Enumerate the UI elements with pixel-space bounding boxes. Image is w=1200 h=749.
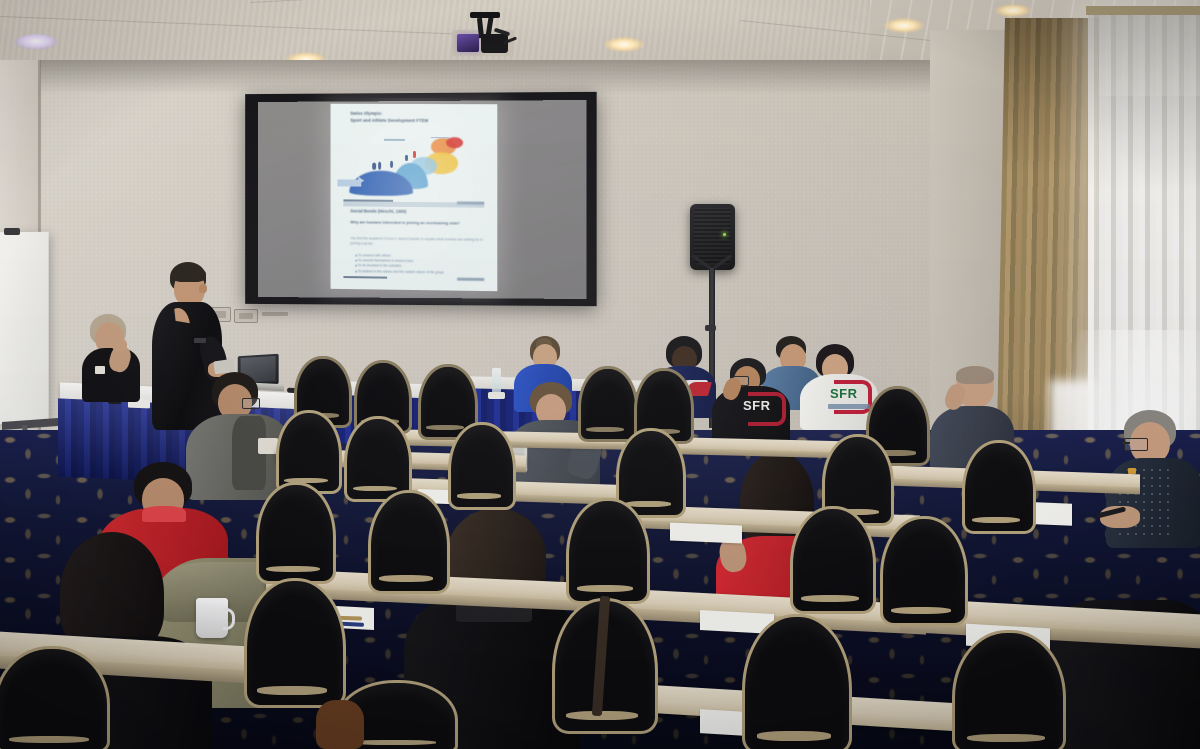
power-outlet[interactable]	[234, 309, 258, 323]
slide-footer-logo	[457, 278, 484, 282]
water-bottle[interactable]	[492, 368, 501, 394]
chair[interactable]	[276, 410, 336, 488]
chair[interactable]	[244, 578, 340, 702]
ftem-label-line	[384, 139, 404, 141]
paper-cup[interactable]	[488, 392, 505, 399]
chair[interactable]	[952, 630, 1060, 749]
presenter-hairline	[172, 266, 206, 282]
projector-ceiling-plate	[470, 12, 500, 18]
glasses-arm	[1122, 442, 1130, 444]
wall-trunking	[262, 312, 288, 316]
paper[interactable]	[258, 438, 278, 454]
presenter-ear	[199, 284, 207, 293]
speaker-stand-knob[interactable]	[705, 325, 716, 331]
chair[interactable]	[962, 440, 1030, 528]
sfr-logo-text: SFR	[743, 398, 771, 413]
power-led-icon	[723, 233, 726, 236]
ftem-arrow-head	[358, 177, 364, 185]
chair[interactable]	[0, 646, 104, 749]
glasses-icon	[1124, 438, 1148, 451]
curtain-track	[1086, 6, 1200, 15]
shirt-logo	[194, 338, 206, 343]
chair[interactable]	[448, 422, 510, 504]
ftem-figure	[405, 155, 408, 161]
chair[interactable]	[742, 614, 846, 749]
ftem-figure	[378, 162, 381, 170]
flipchart-clip	[4, 228, 20, 235]
notepad[interactable]	[670, 522, 742, 543]
ftem-figure	[373, 163, 376, 170]
projector-lens	[457, 34, 479, 52]
projected-slide: Swiss Olympic: Sport and Athlete Develop…	[331, 104, 498, 291]
downlight	[604, 37, 644, 52]
collar	[142, 506, 186, 522]
coffee-mug[interactable]	[196, 598, 228, 638]
chair[interactable]	[790, 506, 870, 608]
ftem-graphic	[340, 135, 487, 199]
chair[interactable]	[566, 498, 644, 598]
ftem-label-line	[431, 137, 449, 139]
bag	[316, 700, 364, 749]
slide-rule	[344, 199, 394, 202]
person-seated-front	[82, 314, 144, 400]
chair[interactable]	[344, 416, 406, 496]
ftem-circle-red	[446, 137, 464, 148]
flipchart-paper	[0, 232, 49, 424]
slide-section-heading: Social Bonds (Hirschi, 1969)	[350, 208, 490, 214]
slide-footer-logo	[457, 201, 484, 205]
wall-top-shadow	[0, 60, 960, 94]
hand-on-chin	[112, 338, 127, 352]
ftem-figure	[390, 161, 393, 168]
chair[interactable]	[880, 516, 962, 620]
name-badge	[95, 366, 105, 374]
slide-bullet: To believe in the values and the radiant…	[355, 269, 489, 276]
glasses-icon	[242, 398, 260, 409]
sfr-logo-text: SFR	[830, 386, 858, 401]
downlight	[995, 4, 1031, 17]
hair	[956, 366, 994, 384]
ftem-figure	[413, 151, 416, 157]
chair[interactable]	[578, 366, 632, 436]
chair[interactable]	[256, 482, 330, 578]
slide-rule-bottom	[344, 276, 387, 279]
slide-question: Why are humans interested in joining an …	[350, 220, 487, 227]
conference-room-photo: Swiss Olympic: Sport and Athlete Develop…	[0, 0, 1200, 749]
slide-body-text: You find the academic Focus 4 -based tra…	[350, 236, 487, 247]
downlight	[884, 18, 924, 33]
slide-title: Swiss Olympic: Sport and Athlete Develop…	[350, 111, 490, 125]
sponsor-text	[828, 404, 870, 409]
downlight	[14, 34, 58, 50]
chair[interactable]	[368, 490, 444, 588]
slide-bullet-list: To connect with others To commit themsel…	[355, 253, 489, 276]
sheer-curtain-shading	[1088, 10, 1200, 190]
attendee-sfr-black: SFR	[712, 358, 790, 442]
